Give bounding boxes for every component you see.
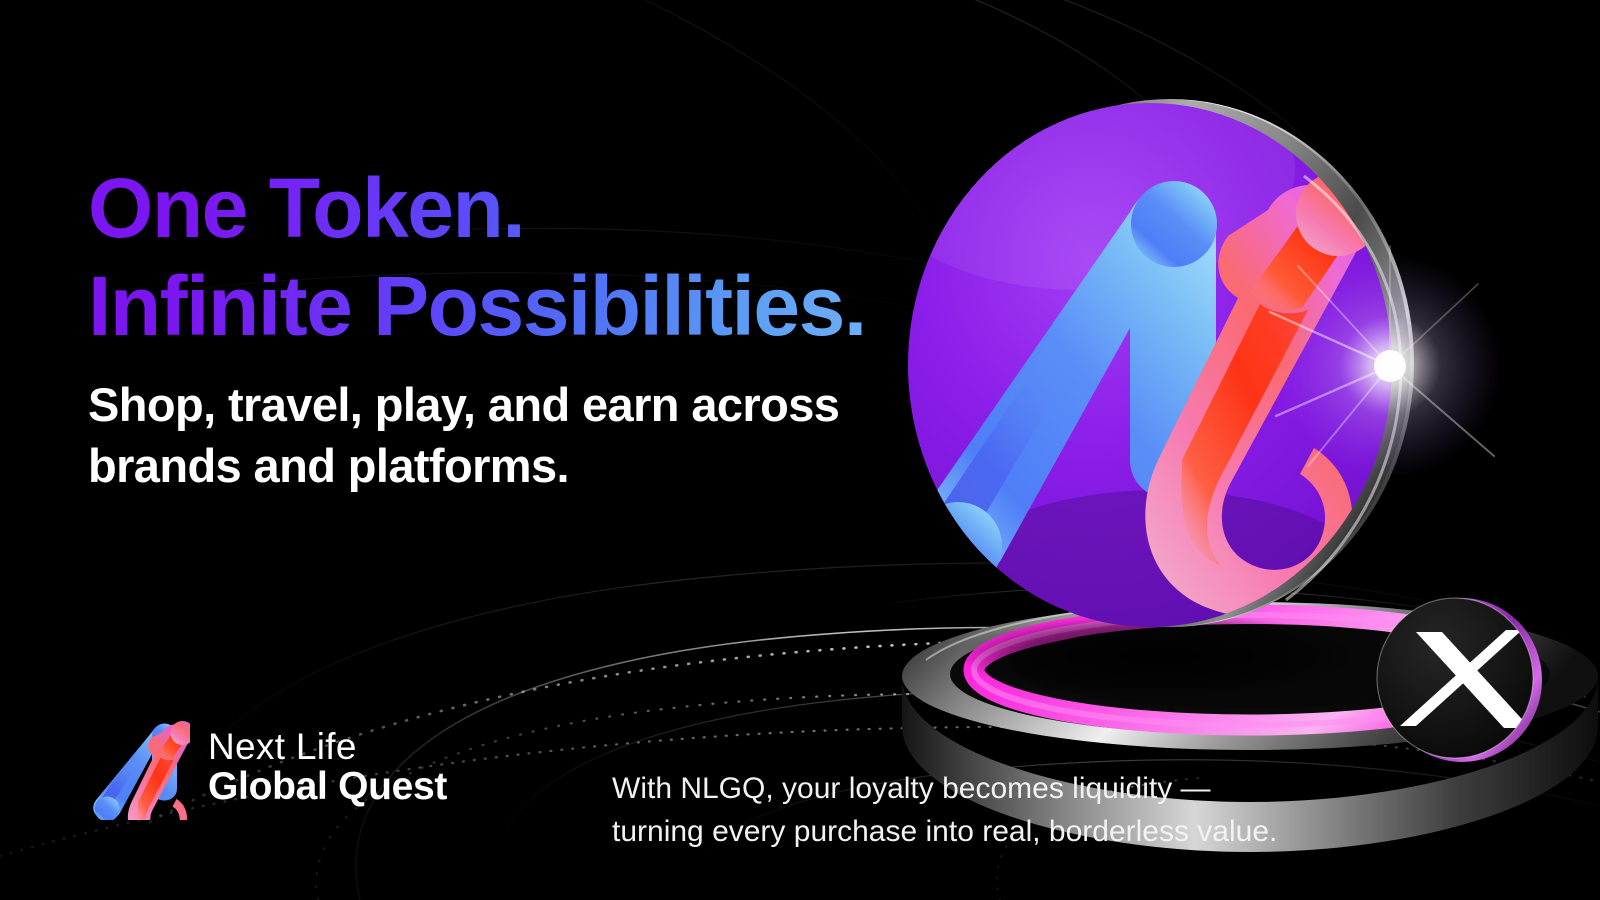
brand-name-bold: Global Quest (208, 767, 447, 808)
headline-line-1: One Token. (88, 160, 866, 257)
x-social-coin-hitbox[interactable] (1418, 592, 1594, 768)
brand-name-light: Next Life (208, 728, 447, 766)
subheadline-line-2: brands and platforms. (88, 435, 839, 496)
tagline-line-2: turning every purchase into real, border… (612, 811, 1277, 854)
brand-name: Next Life Global Quest (208, 728, 447, 807)
nlgq-token-coin-hitbox[interactable] (985, 105, 1455, 625)
headline-line-2: Infinite Possibilities. (88, 258, 866, 355)
subheadline-line-1: Shop, travel, play, and earn across (88, 374, 839, 435)
tagline-line-1: With NLGQ, your loyalty becomes liquidit… (612, 768, 1277, 811)
next-life-n-mark-icon (92, 716, 190, 820)
headline: One Token. Infinite Possibilities. (88, 160, 866, 355)
tagline: With NLGQ, your loyalty becomes liquidit… (612, 768, 1277, 853)
subheadline: Shop, travel, play, and earn across bran… (88, 374, 839, 496)
promo-banner: One Token. Infinite Possibilities. Shop,… (0, 0, 1600, 900)
brand-lockup[interactable]: Next Life Global Quest (92, 716, 447, 820)
